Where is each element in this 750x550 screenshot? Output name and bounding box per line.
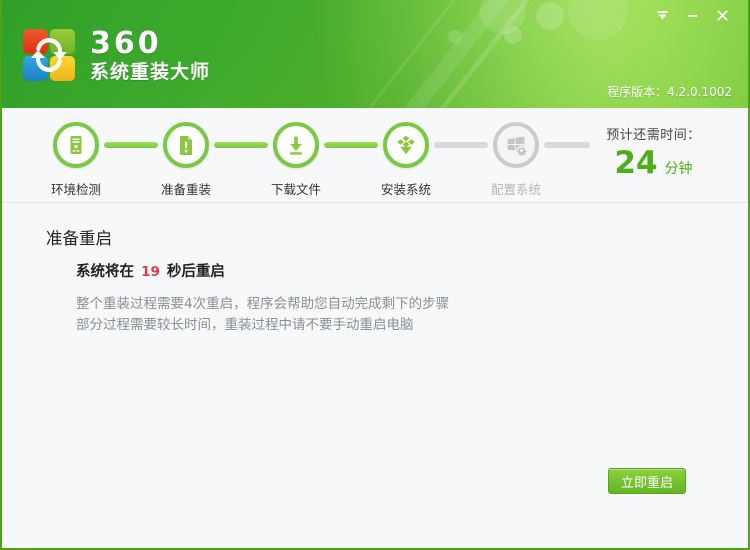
step-circle [383,122,429,168]
content-area: 准备重启 系统将在 19 秒后重启 整个重装过程需要4次重启，程序会帮助您自动完… [2,203,748,546]
restart-prefix-text: 系统将在 [76,264,134,280]
description-block: 整个重装过程需要4次重启，程序会帮助您自动完成剩下的步骤 部分过程需要较长时间，… [76,294,449,335]
header-bokeh-circle [504,26,522,44]
step-item-environment-check[interactable]: 环境检测 [48,122,104,198]
install-package-icon [394,133,418,157]
step-label: 配置系统 [491,179,541,198]
computer-tower-icon [64,133,88,157]
step-label: 下载文件 [271,179,321,198]
step-circle [53,122,99,168]
restart-countdown-line: 系统将在 19 秒后重启 [76,260,449,281]
restart-now-button[interactable]: 立即重启 [608,468,686,494]
minimize-button[interactable] [678,4,706,26]
page-title: 准备重启 [46,225,112,249]
step-item-configure-system[interactable]: 配置系统 [488,122,544,198]
logo-primary-text: 360 [90,29,210,59]
step-item-install-system[interactable]: 安装系统 [378,122,434,198]
restart-seconds-value: 19 [139,264,162,280]
download-arrow-icon [284,133,308,157]
description-line-1: 整个重装过程需要4次重启，程序会帮助您自动完成剩下的步骤 [76,294,449,315]
step-connector [324,142,378,148]
step-connector [214,142,268,148]
header-bokeh-circle [536,2,564,30]
content-body: 系统将在 19 秒后重启 整个重装过程需要4次重启，程序会帮助您自动完成剩下的步… [76,260,449,335]
step-label: 安装系统 [381,179,431,198]
document-alert-icon [174,133,198,157]
app-window: 360 系统重装大师 程序版本：4.2.0.10 [0,0,750,550]
windows-gear-icon [504,133,528,157]
step-circle [273,122,319,168]
estimated-time-value: 24 [614,148,657,179]
header-light-streak [332,0,548,108]
step-circle [493,122,539,168]
estimated-time-unit: 分钟 [665,158,693,178]
step-label: 环境检测 [51,179,101,198]
logo-secondary-text: 系统重装大师 [90,63,210,82]
header-bokeh-circle [568,0,628,40]
progress-step-bar: 环境检测 准备重装 [2,108,748,203]
estimated-time-label: 预计还需时间： [581,124,726,143]
header-bokeh-circle [480,0,526,34]
restart-suffix-text: 秒后重启 [167,264,225,280]
step-label: 准备重装 [161,179,211,198]
step-circle [163,122,209,168]
description-line-2: 部分过程需要较长时间，重装过程中请不要手动重启电脑 [76,315,449,336]
header-bokeh-circle [448,30,462,44]
window-controls [648,4,736,26]
collapse-icon [655,8,670,23]
header-light-streak [293,0,499,108]
step-item-download-files[interactable]: 下载文件 [268,122,324,198]
minimize-icon [685,8,700,23]
collapse-button[interactable] [648,4,676,26]
step-list: 环境检测 准备重装 [48,122,590,198]
header-light-streak [365,0,572,108]
version-label: 程序版本：4.2.0.1002 [607,83,732,100]
step-item-prepare-reinstall[interactable]: 准备重装 [158,122,214,198]
app-logo: 360 系统重装大师 [20,26,210,84]
estimated-time-panel: 预计还需时间： 24 分钟 [581,124,726,179]
step-connector [434,142,488,148]
close-icon [715,8,730,23]
step-connector [104,142,158,148]
close-button[interactable] [708,4,736,26]
title-bar: 360 系统重装大师 程序版本：4.2.0.10 [2,0,748,108]
360-logo-icon [20,26,78,84]
